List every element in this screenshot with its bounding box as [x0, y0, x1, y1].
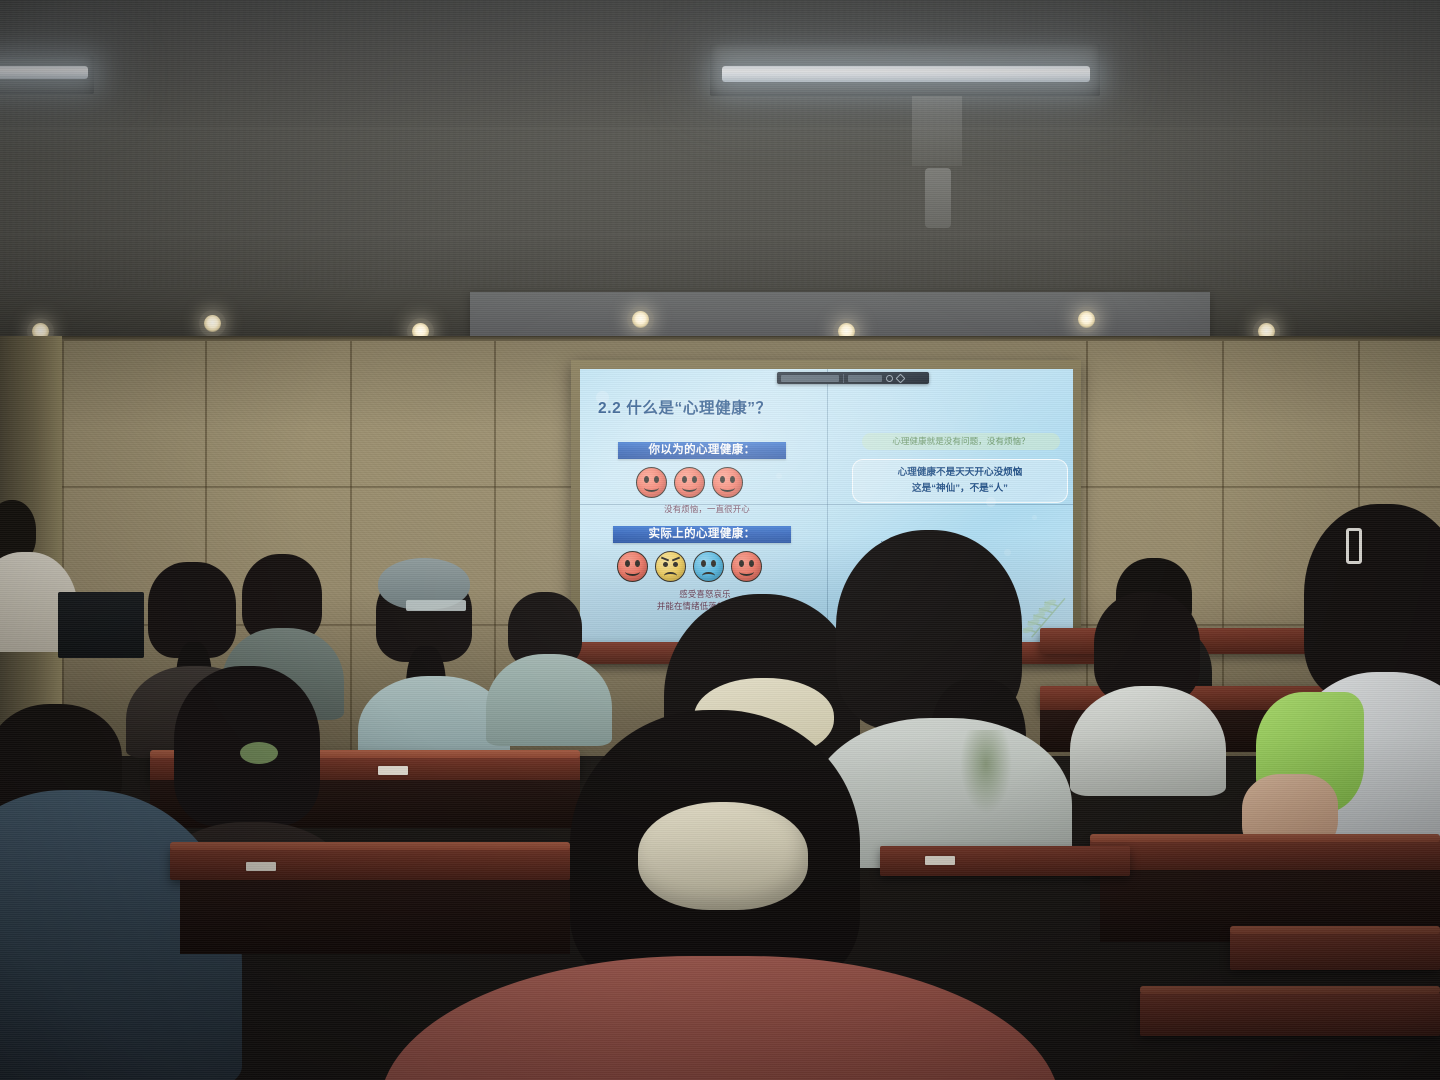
ceiling-seam [0, 128, 1440, 129]
question-pill: 心理健康就是没有问题，没有烦恼？ [862, 433, 1060, 450]
ceiling-speaker [925, 168, 951, 228]
seat-number-tag [246, 862, 276, 871]
answer-line-2: 这是“神仙”，不是“人” [861, 481, 1059, 497]
fluorescent-tube-center [722, 66, 1090, 82]
settings-icon[interactable] [886, 375, 893, 382]
bench-row[interactable] [1230, 930, 1440, 970]
answer-box: 心理健康不是天天开心没烦恼 这是“神仙”，不是“人” [852, 459, 1068, 503]
student-grey-cap [352, 560, 492, 730]
student-dark-bun-coral-shirt [370, 710, 1070, 1080]
lecture-hall-scene: 2.2 什么是“心理健康”？ 你以为的心理健康： 没有烦恼，一直很开心 实际上的… [0, 0, 1440, 1080]
downlight-icon [204, 315, 221, 332]
student-dark-hair-right [1070, 592, 1220, 782]
fluorescent-tube-left [0, 66, 88, 79]
smiley-face-red [674, 467, 705, 498]
cap-strap [406, 600, 466, 611]
hair-scrunchie [638, 802, 808, 910]
presentation-toolbar[interactable] [777, 372, 929, 384]
caption-perceived: 没有烦恼，一直很开心 [632, 504, 782, 515]
answer-line-1: 心理健康不是天天开心没烦恼 [861, 465, 1059, 481]
banner-actual-health: 实际上的心理健康： [613, 526, 791, 543]
bench-row[interactable] [1140, 992, 1440, 1036]
slide-title: 2.2 什么是“心理健康”？ [598, 396, 772, 418]
banner-perceived-health: 你以为的心理健康： [618, 442, 786, 459]
bench-top-rail [1140, 986, 1440, 994]
toolbar-title-chip [781, 375, 839, 382]
student-green-raglan [1250, 504, 1440, 844]
bench-top-rail [1090, 834, 1440, 842]
smiley-face-red [712, 467, 743, 498]
toolbar-label-chip [848, 375, 882, 382]
ceiling [0, 0, 1440, 300]
bench-row[interactable] [1090, 838, 1440, 872]
downlight-icon [632, 311, 649, 328]
smiley-face-red [636, 467, 667, 498]
downlight-icon [1078, 311, 1095, 328]
wall-trim [0, 336, 1440, 341]
face-group-perceived [636, 467, 743, 498]
ceiling-seam [0, 234, 1440, 235]
pen-icon[interactable] [896, 373, 906, 383]
projector-mount [912, 96, 962, 166]
audience-seating [0, 600, 1440, 1080]
hair-clip [1346, 528, 1362, 564]
bench-top-rail [1230, 926, 1440, 934]
